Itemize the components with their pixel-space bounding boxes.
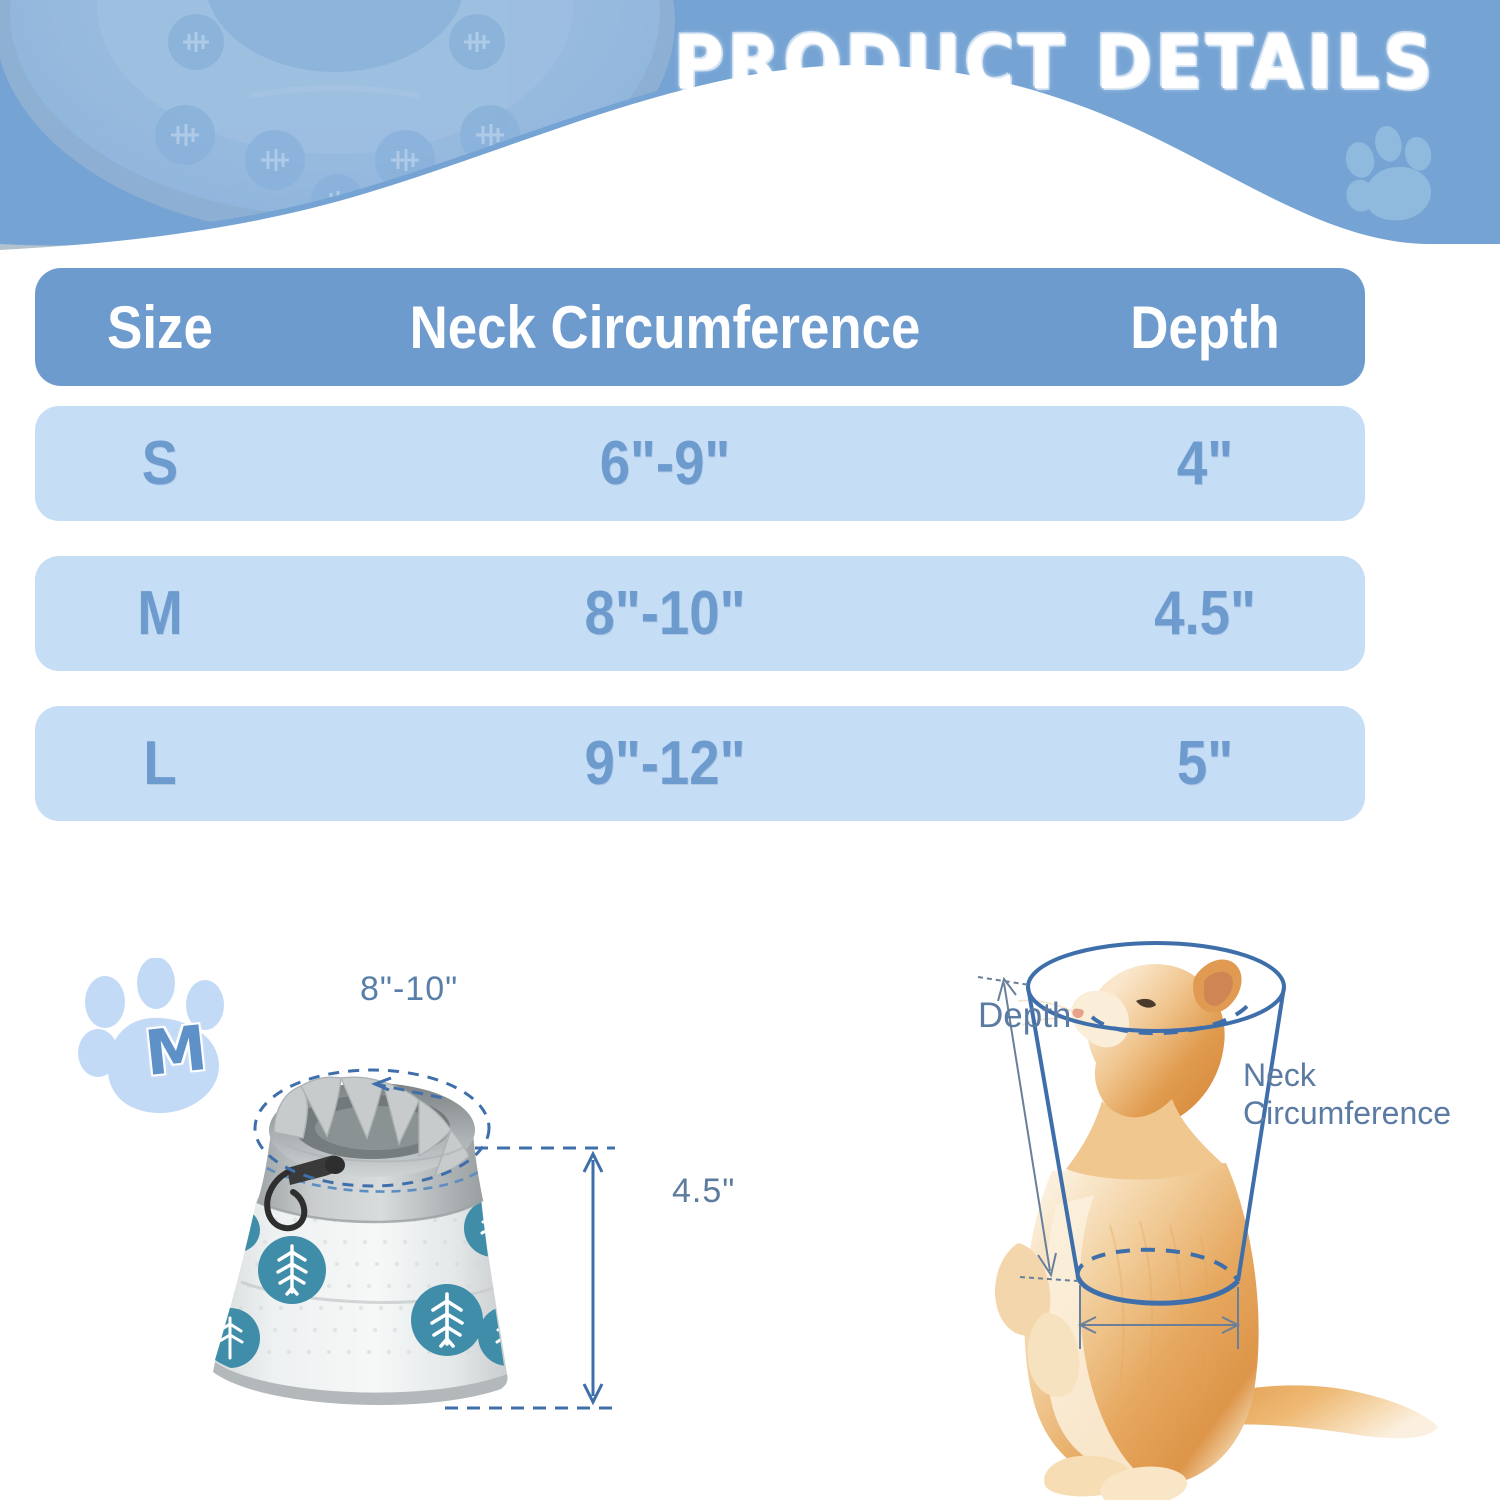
column-header-size: Size [50, 293, 270, 362]
table-row: L 9"-12" 5" [35, 706, 1365, 821]
cell-size: M [50, 578, 270, 649]
fishbone-icon [258, 1236, 326, 1304]
fishbone-icon [411, 1284, 483, 1356]
cell-neck-circumference: 9"-12" [331, 728, 1000, 799]
cat-depth-label: Depth [978, 996, 1071, 1036]
cell-size: L [50, 728, 270, 799]
cell-size: S [50, 428, 270, 499]
column-header-neck-circumference: Neck Circumference [331, 293, 1000, 362]
table-row: S 6"-9" 4" [35, 406, 1365, 521]
cell-neck-circumference: 6"-9" [331, 428, 1000, 499]
fishbone-icon [464, 1199, 522, 1257]
product-depth-dimension-label: 4.5" [672, 1172, 735, 1211]
cat-neck-label-line-1: Neck [1243, 1056, 1451, 1094]
page-title: PRODUCT DETAILS [650, 18, 1460, 108]
cell-depth: 4.5" [1064, 578, 1346, 649]
table-row: M 8"-10" 4.5" [35, 556, 1365, 671]
cat-photo [995, 960, 1438, 1500]
cat-neck-circumference-label: Neck Circumference [1243, 1056, 1451, 1132]
size-table: Size Neck Circumference Depth S 6"-9" 4"… [35, 268, 1365, 821]
column-header-depth: Depth [1064, 293, 1346, 362]
fishbone-icon [216, 1208, 260, 1252]
cat-neck-label-line-2: Circumference [1243, 1094, 1451, 1132]
cat-tail [1222, 1385, 1438, 1438]
product-neck-dimension-label: 8"-10" [360, 970, 458, 1009]
fishbone-icon [200, 1308, 260, 1368]
product-cone-illustration [175, 1020, 615, 1450]
fishbone-icon [478, 1306, 538, 1366]
table-header-row: Size Neck Circumference Depth [35, 268, 1365, 386]
cell-depth: 5" [1064, 728, 1346, 799]
header-banner: PRODUCT DETAILS [0, 0, 1500, 250]
cell-depth: 4" [1064, 428, 1346, 499]
cell-neck-circumference: 8"-10" [331, 578, 1000, 649]
